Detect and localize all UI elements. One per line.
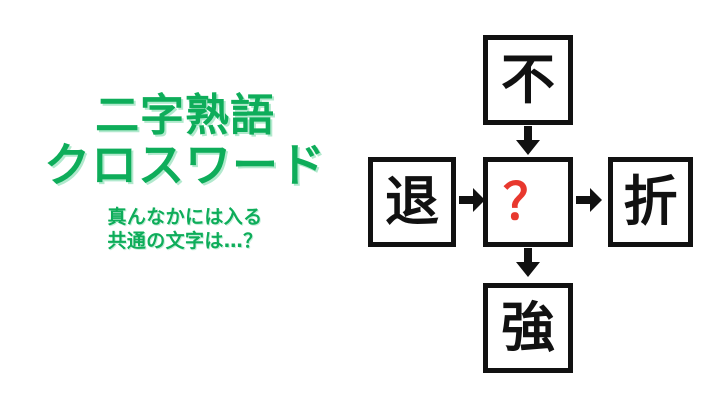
page-title: 二字熟語 クロスワード (0, 92, 370, 190)
subtitle-line-2: 共通の文字は…？ (0, 230, 370, 254)
title-line-1: 二字熟語 (0, 92, 370, 139)
arrow-down-icon-top (515, 126, 541, 156)
cell-glyph-top: 不 (501, 53, 555, 107)
title-line-2: クロスワード (0, 141, 370, 190)
crossword-cell-bottom: 強 (483, 283, 573, 373)
poster-canvas: 二字熟語 クロスワード 真んなかには入る 共通の文字は…？ 不 退 ？ 折 強 (0, 0, 720, 405)
crossword-diagram: 不 退 ？ 折 強 (360, 20, 710, 380)
arrow-right-icon-center (576, 187, 603, 213)
cell-glyph-right: 折 (624, 175, 678, 229)
headline-block: 二字熟語 クロスワード 真んなかには入る 共通の文字は…？ (0, 92, 370, 253)
crossword-cell-right: 折 (608, 157, 693, 247)
crossword-cell-left: 退 (368, 157, 456, 247)
cell-glyph-left: 退 (385, 175, 439, 229)
cell-glyph-center-unknown: ？ (503, 177, 553, 227)
cell-glyph-bottom: 強 (501, 301, 555, 355)
subtitle-line-1: 真んなかには入る (0, 206, 370, 230)
arrow-right-icon-left (459, 187, 486, 213)
crossword-cell-center[interactable]: ？ (483, 157, 573, 247)
subtitle-block: 真んなかには入る 共通の文字は…？ (0, 206, 370, 253)
crossword-cell-top: 不 (483, 35, 573, 125)
arrow-down-icon-bottom (515, 248, 541, 278)
